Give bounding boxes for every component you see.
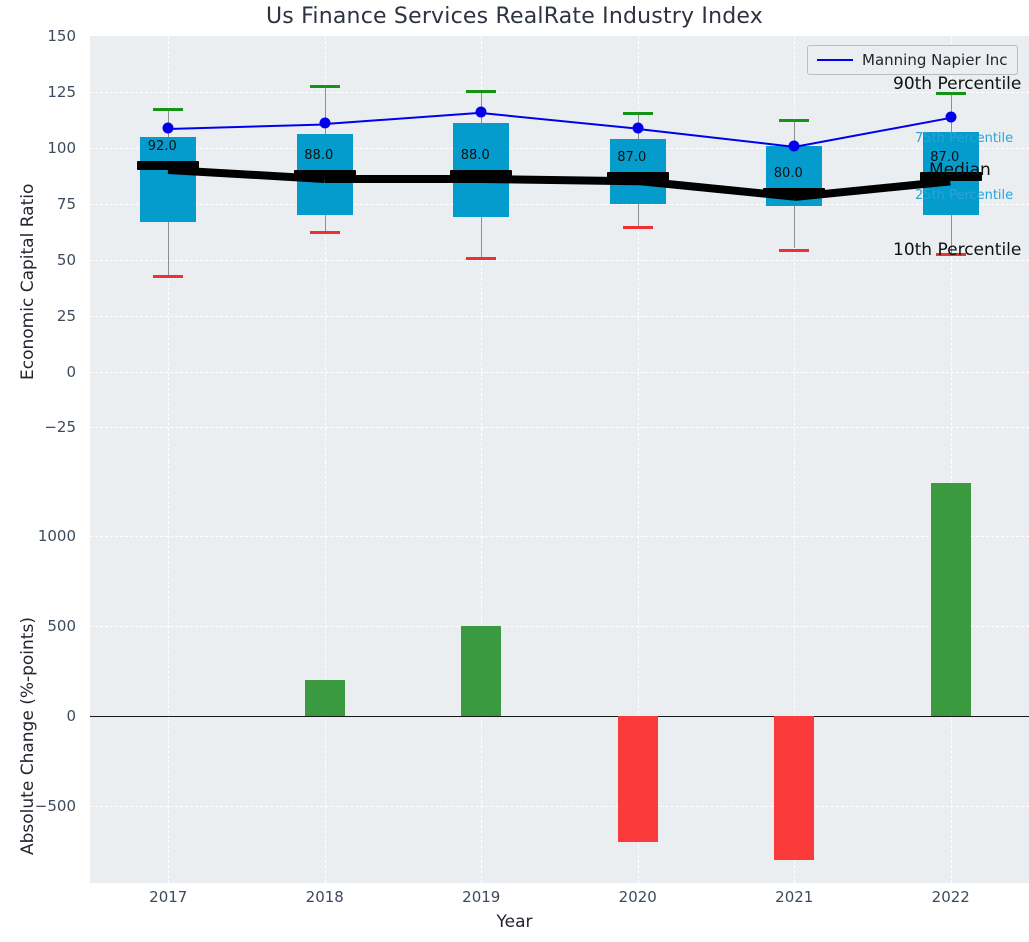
box-2020 <box>610 139 666 204</box>
x-tick-label: 2019 <box>462 888 500 906</box>
bar-2019 <box>461 626 501 716</box>
annotation-median: Median <box>929 160 991 180</box>
y-tick-label-top: 0 <box>0 363 76 381</box>
median-marker-2021 <box>763 188 825 197</box>
gridline-y-bottom <box>90 536 1029 537</box>
whisker-cap-high-2017 <box>153 108 183 111</box>
whisker-cap-high-2021 <box>779 119 809 122</box>
whisker-cap-high-2020 <box>623 112 653 115</box>
median-value-label-2021: 80.0 <box>774 166 803 181</box>
median-marker-2020 <box>607 172 669 181</box>
series-point-2017 <box>163 122 174 133</box>
whisker-cap-low-2019 <box>466 257 496 260</box>
whisker-cap-low-2018 <box>310 231 340 234</box>
gridline-y-top <box>90 316 1029 317</box>
bar-2018 <box>305 680 345 716</box>
annotation-90th-percentile: 90th Percentile <box>893 74 1021 94</box>
series-point-2019 <box>476 107 487 118</box>
whisker-cap-high-2018 <box>310 85 340 88</box>
y-tick-label-top: 25 <box>0 307 76 325</box>
bar-2021 <box>774 716 814 860</box>
series-point-2018 <box>319 118 330 129</box>
gridline-y-top <box>90 260 1029 261</box>
series-point-2021 <box>789 140 800 151</box>
median-value-label-2019: 88.0 <box>461 148 490 163</box>
y-tick-label-bottom: 0 <box>0 707 76 725</box>
gridline-x-bottom <box>325 461 326 883</box>
whisker-cap-high-2019 <box>466 90 496 93</box>
x-tick-label: 2018 <box>306 888 344 906</box>
legend-line-swatch <box>817 59 853 61</box>
gridline-y-bottom <box>90 626 1029 627</box>
y-tick-label-top: 50 <box>0 251 76 269</box>
x-tick-label: 2017 <box>149 888 187 906</box>
whisker-cap-low-2021 <box>779 249 809 252</box>
gridline-y-top <box>90 148 1029 149</box>
legend-entry-label: Manning Napier Inc <box>862 51 1008 69</box>
y-tick-label-bottom: 500 <box>0 617 76 635</box>
median-value-label-2017: 92.0 <box>148 139 177 154</box>
zero-baseline <box>90 716 1029 717</box>
gridline-y-top <box>90 92 1029 93</box>
annotation-10th-percentile: 10th Percentile <box>893 240 1021 260</box>
bar-2020 <box>618 716 658 842</box>
y-tick-label-top: 125 <box>0 83 76 101</box>
y-tick-label-top: 150 <box>0 27 76 45</box>
gridline-x-top <box>638 36 639 461</box>
chart-title: Us Finance Services RealRate Industry In… <box>0 4 1029 29</box>
gridline-y-bottom <box>90 806 1029 807</box>
whisker-cap-low-2017 <box>153 275 183 278</box>
y-tick-label-top: −25 <box>0 418 76 436</box>
gridline-x-bottom <box>168 461 169 883</box>
median-marker-2019 <box>450 170 512 179</box>
bar-2022 <box>931 483 971 716</box>
annotation-75th-percentile: 75th Percentile <box>915 131 1013 146</box>
median-value-label-2018: 88.0 <box>304 148 333 163</box>
panel-absolute-change <box>90 461 1029 883</box>
panel-economic-capital-ratio <box>90 36 1029 461</box>
gridline-y-top <box>90 372 1029 373</box>
y-tick-label-top: 75 <box>0 195 76 213</box>
x-tick-label: 2022 <box>932 888 970 906</box>
chart-figure: Us Finance Services RealRate Industry In… <box>0 0 1029 942</box>
y-tick-label-top: 100 <box>0 139 76 157</box>
gridline-y-top <box>90 427 1029 428</box>
y-tick-label-bottom: −500 <box>0 797 76 815</box>
y-tick-label-bottom: 1000 <box>0 527 76 545</box>
median-marker-2017 <box>137 161 199 170</box>
x-axis-label: Year <box>0 912 1029 932</box>
y-axis-label-bottom: Absolute Change (%-points) <box>18 617 38 855</box>
median-value-label-2020: 87.0 <box>617 150 646 165</box>
annotation-25th-percentile: 25th Percentile <box>915 188 1013 203</box>
chart-legend: Manning Napier Inc <box>807 45 1018 75</box>
gridline-y-top <box>90 204 1029 205</box>
series-point-2022 <box>945 111 956 122</box>
y-axis-label-top: Economic Capital Ratio <box>18 184 38 380</box>
median-marker-2018 <box>294 170 356 179</box>
series-point-2020 <box>632 122 643 133</box>
x-tick-label: 2021 <box>775 888 813 906</box>
x-tick-label: 2020 <box>619 888 657 906</box>
whisker-cap-low-2020 <box>623 226 653 229</box>
